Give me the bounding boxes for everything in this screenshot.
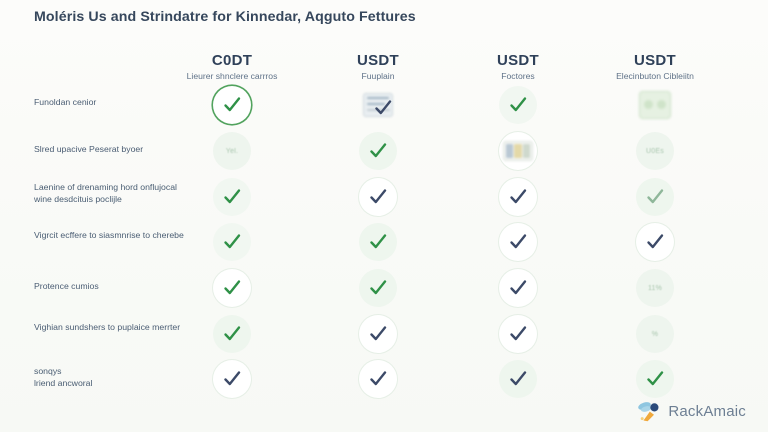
check-icon (507, 323, 529, 345)
cell-r5-c1 (213, 269, 251, 307)
money-artifact-icon (639, 91, 671, 119)
cell-r1-c4 (636, 86, 674, 124)
check-icon (644, 186, 666, 208)
row-label-1: Funoldan cenior (34, 97, 184, 109)
column-subtitle: Elecinbuton Cibleiitn (575, 71, 735, 82)
check-icon (367, 323, 389, 345)
cell-r6-c4: % (636, 315, 674, 353)
cell-r5-c4: 11% (636, 269, 674, 307)
cell-r1-c3 (499, 86, 537, 124)
cell-r4-c1 (213, 223, 251, 261)
cell-r2-c1: Yel. (213, 132, 251, 170)
check-icon (367, 140, 389, 162)
cell-ghost-text: Yel. (226, 148, 238, 155)
cell-r7-c4 (636, 360, 674, 398)
column-subtitle: Foctores (438, 71, 598, 82)
cell-r3-c1 (213, 178, 251, 216)
column-ticker: USDT (298, 52, 458, 69)
check-icon (221, 277, 243, 299)
cell-r1-c2 (359, 86, 397, 124)
check-icon (507, 368, 529, 390)
cell-ghost-text: 11% (648, 285, 662, 292)
comparison-table-page: Moléris Us and Strindatre for Kinnedar, … (0, 0, 768, 432)
column-subtitle: Lieurer shnclere carrros (152, 71, 312, 82)
check-icon (367, 231, 389, 253)
cell-r4-c3 (499, 223, 537, 261)
row-label-3: Laenine of drenaming hord onflujocal win… (34, 182, 184, 205)
column-header-3: USDTFoctores (438, 52, 598, 82)
check-icon (507, 277, 529, 299)
cell-r7-c2 (359, 360, 397, 398)
cell-r7-c1 (213, 360, 251, 398)
check-icon (367, 277, 389, 299)
cell-r3-c2 (359, 178, 397, 216)
watermark-logo: RackAmaic (636, 400, 746, 422)
row-label-7: sonqys lriend ancworal (34, 366, 184, 389)
cell-r2-c2 (359, 132, 397, 170)
cell-r2-c4: U0Es (636, 132, 674, 170)
cell-r5-c2 (359, 269, 397, 307)
check-icon (507, 94, 529, 116)
cell-r7-c3 (499, 360, 537, 398)
cell-r6-c1 (213, 315, 251, 353)
column-ticker: USDT (438, 52, 598, 69)
check-icon (221, 231, 243, 253)
row-label-2: Slred upacive Peserat byoer (34, 144, 184, 156)
cell-r4-c4 (636, 223, 674, 261)
cell-ghost-text: % (652, 331, 658, 338)
cell-r4-c2 (359, 223, 397, 261)
column-header-4: USDTElecinbuton Cibleiitn (575, 52, 735, 82)
page-title: Moléris Us and Strindatre for Kinnedar, … (34, 9, 416, 25)
column-header-1: C0DTLieurer shnclere carrros (152, 52, 312, 82)
row-label-4: Vigrcit ecffere to siasmnrise to cherebe (34, 230, 184, 242)
check-icon (644, 231, 666, 253)
column-header-2: USDTFuuplain (298, 52, 458, 82)
check-icon (644, 368, 666, 390)
check-icon (507, 186, 529, 208)
row-label-6: Vighian sundshers to puplaice merrter (34, 322, 184, 334)
check-icon (221, 323, 243, 345)
cell-r3-c3 (499, 178, 537, 216)
check-icon (221, 368, 243, 390)
column-subtitle: Fuuplain (298, 71, 458, 82)
row-label-5: Protence cumios (34, 281, 184, 293)
check-icon (372, 97, 394, 119)
cell-ghost-text: U0Es (646, 148, 664, 155)
rackamaic-logo-icon (636, 400, 662, 422)
watermark-text: RackAmaic (668, 403, 746, 420)
column-ticker: C0DT (152, 52, 312, 69)
cell-r2-c3 (499, 132, 537, 170)
check-icon (367, 186, 389, 208)
check-icon (367, 368, 389, 390)
cell-r6-c2 (359, 315, 397, 353)
check-icon (221, 186, 243, 208)
card-artifact-icon (503, 141, 533, 161)
column-ticker: USDT (575, 52, 735, 69)
cell-r6-c3 (499, 315, 537, 353)
cell-r3-c4 (636, 178, 674, 216)
check-icon (507, 231, 529, 253)
check-icon (221, 94, 243, 116)
cell-r5-c3 (499, 269, 537, 307)
cell-r1-c1 (213, 86, 251, 124)
